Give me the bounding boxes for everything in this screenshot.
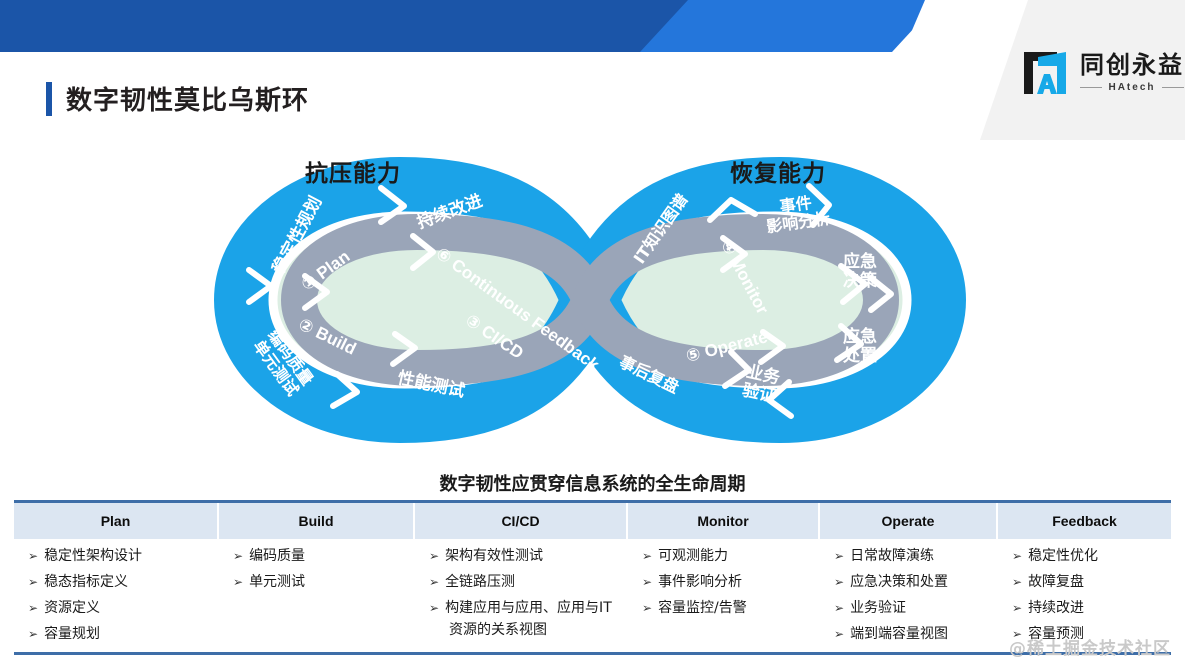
list-item: ➢事件影响分析 <box>642 573 820 592</box>
page-title-wrap: 数字韧性莫比乌斯环 <box>46 80 309 117</box>
watermark: @稀土掘金技术社区 <box>1009 634 1171 659</box>
lifecycle-table: Plan Build CI/CD Monitor Operate Feedbac… <box>14 500 1171 649</box>
page-title: 数字韧性莫比乌斯环 <box>66 80 309 117</box>
mobius-infinity-diagram: 抗压能力 恢复能力 稳定性规划 持续改进 性能测试 编码质量 单元测试 IT知识… <box>165 148 1015 453</box>
bullet-icon: ➢ <box>834 599 844 617</box>
list-item-label: 资源的关系视图 <box>449 621 547 640</box>
bullet-icon: ➢ <box>233 547 243 565</box>
list-item: ➢构建应用与应用、应用与IT <box>429 599 628 618</box>
table-cell-operate: ➢日常故障演练 ➢应急决策和处置 ➢业务验证 ➢端到端容量视图 <box>820 547 998 649</box>
logo-english-row: HAtech <box>1080 82 1183 93</box>
list-item-label: 事件影响分析 <box>658 573 742 592</box>
list-item: ➢应急决策和处置 <box>834 573 998 592</box>
logo-english-name: HAtech <box>1108 82 1155 93</box>
table-cell-build: ➢编码质量 ➢单元测试 <box>219 547 415 649</box>
bullet-icon: ➢ <box>429 547 439 565</box>
table-header-feedback: Feedback <box>998 503 1171 539</box>
list-item: ➢资源定义 <box>28 599 219 618</box>
infinity-graphic <box>165 148 1015 453</box>
bullet-icon: ➢ <box>1012 599 1022 617</box>
list-item: ➢端到端容量视图 <box>834 625 998 644</box>
bullet-icon: ➢ <box>233 573 243 591</box>
list-item: ➢单元测试 <box>233 573 415 592</box>
list-item-label: 容量规划 <box>44 625 100 644</box>
list-item-label: 构建应用与应用、应用与IT <box>445 599 612 618</box>
list-item: ➢编码质量 <box>233 547 415 566</box>
list-item-label: 应急决策和处置 <box>850 573 948 592</box>
logo-rule-left <box>1080 87 1102 88</box>
list-item: ➢持续改进 <box>1012 599 1171 618</box>
left-lobe-caption: 抗压能力 <box>305 154 401 188</box>
bullet-icon: ➢ <box>642 573 652 591</box>
bullet-icon: ➢ <box>834 547 844 565</box>
header-band-mid <box>640 0 940 52</box>
bullet-icon: ➢ <box>642 547 652 565</box>
table-cell-monitor: ➢可观测能力 ➢事件影响分析 ➢容量监控/告警 <box>628 547 820 649</box>
list-item-label: 日常故障演练 <box>850 547 934 566</box>
list-item-label: 稳态指标定义 <box>44 573 128 592</box>
list-item-label: 端到端容量视图 <box>850 625 948 644</box>
bullet-icon: ➢ <box>28 625 38 643</box>
list-item-label: 稳定性架构设计 <box>44 547 142 566</box>
bullet-icon: ➢ <box>1012 573 1022 591</box>
bullet-icon: ➢ <box>28 547 38 565</box>
ha-logo-icon <box>1020 48 1070 98</box>
logo-rule-right <box>1162 87 1184 88</box>
page-header: 数字韧性莫比乌斯环 同创永益 HAtech <box>0 0 1185 140</box>
bullet-icon: ➢ <box>429 599 439 617</box>
logo-chinese-name: 同创永益 <box>1080 53 1184 77</box>
list-item: ➢容量监控/告警 <box>642 599 820 618</box>
list-item: ➢稳定性优化 <box>1012 547 1171 566</box>
list-item-label: 架构有效性测试 <box>445 547 543 566</box>
table-header-operate: Operate <box>820 503 998 539</box>
table-body: ➢稳定性架构设计 ➢稳态指标定义 ➢资源定义 ➢容量规划 ➢编码质量 ➢单元测试… <box>14 539 1171 649</box>
list-item-label: 资源定义 <box>44 599 100 618</box>
table-bottom-rule <box>14 652 1171 655</box>
table-header-monitor: Monitor <box>628 503 820 539</box>
list-item-label: 持续改进 <box>1028 599 1084 618</box>
list-item-label: 故障复盘 <box>1028 573 1084 592</box>
table-header-cicd: CI/CD <box>415 503 628 539</box>
list-item: ➢可观测能力 <box>642 547 820 566</box>
bullet-icon: ➢ <box>1012 547 1022 565</box>
list-item-continuation: 资源的关系视图 <box>429 621 628 640</box>
table-cell-cicd: ➢架构有效性测试 ➢全链路压测 ➢构建应用与应用、应用与IT 资源的关系视图 <box>415 547 628 649</box>
bullet-icon: ➢ <box>642 599 652 617</box>
header-band-dark <box>0 0 760 52</box>
list-item: ➢日常故障演练 <box>834 547 998 566</box>
list-item-label: 业务验证 <box>850 599 906 618</box>
bullet-icon: ➢ <box>834 625 844 643</box>
table-header-row: Plan Build CI/CD Monitor Operate Feedbac… <box>14 503 1171 539</box>
table-header-build: Build <box>219 503 415 539</box>
bullet-icon: ➢ <box>429 573 439 591</box>
list-item: ➢全链路压测 <box>429 573 628 592</box>
table-header-plan: Plan <box>14 503 219 539</box>
list-item: ➢稳定性架构设计 <box>28 547 219 566</box>
list-item: ➢稳态指标定义 <box>28 573 219 592</box>
right-lobe-caption: 恢复能力 <box>730 154 826 188</box>
list-item-label: 容量监控/告警 <box>658 599 747 618</box>
list-item: ➢业务验证 <box>834 599 998 618</box>
logo-text: 同创永益 HAtech <box>1080 53 1184 93</box>
section-subtitle: 数字韧性应贯穿信息系统的全生命周期 <box>0 470 1185 496</box>
list-item: ➢架构有效性测试 <box>429 547 628 566</box>
list-item-label: 全链路压测 <box>445 573 515 592</box>
list-item-label: 可观测能力 <box>658 547 728 566</box>
title-accent-bar <box>46 82 52 116</box>
list-item-label: 编码质量 <box>249 547 305 566</box>
bullet-icon: ➢ <box>28 599 38 617</box>
bullet-icon: ➢ <box>28 573 38 591</box>
table-cell-plan: ➢稳定性架构设计 ➢稳态指标定义 ➢资源定义 ➢容量规划 <box>14 547 219 649</box>
list-item-label: 稳定性优化 <box>1028 547 1098 566</box>
list-item: ➢容量规划 <box>28 625 219 644</box>
brand-logo: 同创永益 HAtech <box>1020 48 1184 98</box>
bullet-icon: ➢ <box>834 573 844 591</box>
list-item: ➢故障复盘 <box>1012 573 1171 592</box>
list-item-label: 单元测试 <box>249 573 305 592</box>
